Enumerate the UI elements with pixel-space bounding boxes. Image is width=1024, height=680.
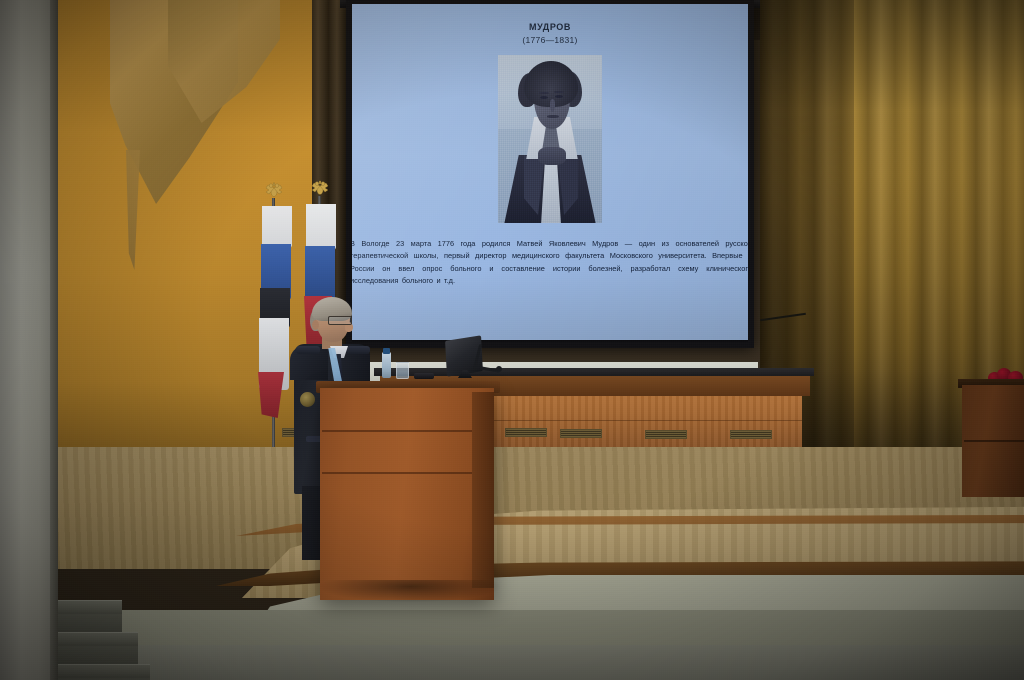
projection-screen: МУДРОВ (1776—1831)	[352, 4, 748, 340]
presenter-epaulette	[346, 346, 370, 354]
presenter-epaulette	[296, 346, 320, 354]
slide-paragraph: В Вологде 23 марта 1776 года родился Мат…	[352, 238, 748, 288]
remote-control[interactable]	[414, 373, 434, 379]
podium-seam	[322, 472, 492, 474]
wall-vent-grille	[505, 428, 547, 437]
flag-cloth-band-white	[306, 204, 336, 250]
microphone-arm[interactable]	[476, 344, 502, 376]
slide-portrait-image	[498, 55, 602, 223]
hall-pillar	[0, 0, 56, 680]
flag-cloth-band-blue	[305, 246, 335, 300]
presenters-table-top	[374, 368, 814, 376]
slide-title: МУДРОВ	[360, 22, 740, 32]
presenter-ear	[312, 320, 319, 330]
wall-vent-grille	[730, 430, 772, 439]
presentation-slide: МУДРОВ (1776—1831)	[352, 4, 748, 340]
speaker-podium	[320, 388, 494, 600]
portrait-halftone-grain	[498, 55, 602, 223]
eyeglasses-icon	[328, 316, 352, 325]
podium-seam	[322, 430, 492, 432]
water-bottle-cap	[383, 348, 390, 354]
podium-floor-shadow	[320, 580, 500, 602]
auditorium-photo: МУДРОВ (1776—1831)	[0, 0, 1024, 680]
water-bottle[interactable]	[382, 352, 391, 378]
wall-vent-grille	[645, 430, 687, 439]
presenter-sleeve-badge	[300, 392, 315, 407]
wall-vent-grille	[560, 429, 602, 438]
mic-head	[496, 366, 502, 372]
slide-body-text: В Вологде 23 марта 1776 года родился Мат…	[352, 238, 748, 288]
slide-subtitle-dates: (1776—1831)	[360, 35, 740, 45]
hall-pillar-edge	[50, 0, 58, 680]
drinking-glass[interactable]	[396, 362, 409, 379]
podium-side-panel	[472, 392, 494, 588]
flag-cloth	[262, 206, 292, 248]
side-table-seam	[964, 440, 1024, 442]
